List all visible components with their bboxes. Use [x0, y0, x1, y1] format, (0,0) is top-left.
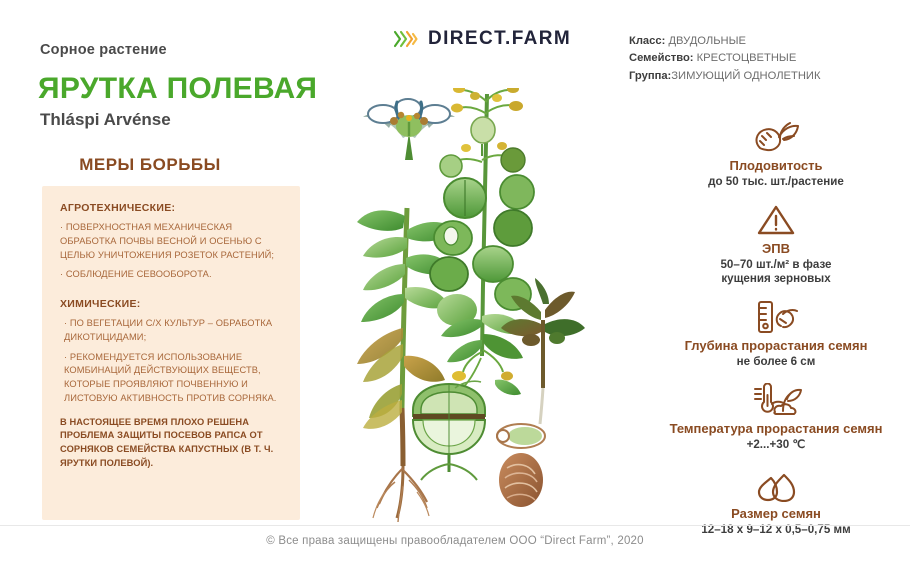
classification-value: ЗИМУЮЩИЙ ОДНОЛЕТНИК — [671, 70, 820, 82]
warning-triangle-icon — [645, 195, 907, 237]
chemical-item: · РЕКОМЕНДУЕТСЯ ИСПОЛЬЗОВАНИЕ КОМБИНАЦИЙ… — [60, 351, 286, 406]
measures-note: В НАСТОЯЩЕЕ ВРЕМЯ ПЛОХО РЕШЕНА ПРОБЛЕМА … — [60, 416, 286, 472]
classification-row-group: Группа:ЗИМУЮЩИЙ ОДНОЛЕТНИК — [629, 68, 904, 85]
page-title: ЯРУТКА ПОЛЕВАЯ — [38, 72, 317, 106]
fact-title: Глубина прорастания семян — [645, 338, 907, 353]
fact-title: ЭПВ — [645, 241, 907, 256]
fact-title: Размер семян — [645, 506, 907, 521]
classification-key: Семейство: — [629, 52, 694, 64]
fact-value: 50–70 шт./м² в фазе кущения зерновых — [645, 258, 907, 286]
fact-value: не более 6 см — [645, 355, 907, 369]
seed-pod-cross-section — [413, 381, 485, 480]
footer-copyright: © Все права защищены правообладателем ОО… — [0, 535, 910, 547]
agrotechnical-item: · СОБЛЮДЕНИЕ СЕВООБОРОТА. — [60, 268, 286, 282]
fact-epv: ЭПВ 50–70 шт./м² в фазе кущения зерновых — [645, 195, 907, 287]
seed-sprout-icon — [645, 112, 907, 154]
fact-value-line1: 50–70 шт./м² в фазе — [720, 258, 831, 271]
measures-heading: МЕРЫ БОРЬБЫ — [0, 155, 300, 175]
agrotechnical-heading: АГРОТЕХНИЧЕСКИЕ: — [60, 202, 286, 214]
fact-germination-depth: Глубина прорастания семян не более 6 см — [645, 292, 907, 369]
infographic-page: Сорное растение ЯРУТКА ПОЛЕВАЯ Thláspi A… — [0, 0, 910, 563]
classification-key: Группа: — [629, 70, 671, 82]
fact-title: Плодовитость — [645, 158, 907, 173]
fact-value: до 50 тыс. шт./растение — [645, 175, 907, 189]
fact-value: +2...+30 ℃ — [645, 438, 907, 452]
fact-value-line2: кущения зерновых — [721, 272, 830, 285]
agrotechnical-item: · ПОВЕРХНОСТНАЯ МЕХАНИЧЕСКАЯ ОБРАБОТКА П… — [60, 221, 286, 262]
fact-fertility: Плодовитость до 50 тыс. шт./растение — [645, 112, 907, 189]
seed-detail — [497, 424, 545, 507]
footer-divider — [0, 525, 910, 526]
chevrons-logo-icon — [393, 28, 419, 50]
flowering-stem — [430, 88, 534, 402]
classification-row-family: Семейство: КРЕСТОЦВЕТНЫЕ — [629, 50, 904, 67]
fact-germination-temperature: Температура прорастания семян +2...+30 ℃ — [645, 375, 907, 452]
rosette-with-root — [357, 208, 457, 522]
chemical-heading: ХИМИЧЕСКИЕ: — [60, 298, 286, 310]
flower-closeup — [363, 99, 455, 160]
classification-block: Класс: ДВУДОЛЬНЫЕ Семейство: КРЕСТОЦВЕТН… — [629, 33, 904, 85]
ruler-seed-icon — [645, 292, 907, 334]
chemical-item: · ПО ВЕГЕТАЦИИ С/Х КУЛЬТУР – ОБРАБОТКА Д… — [60, 317, 286, 345]
classification-value: ДВУДОЛЬНЫЕ — [668, 35, 746, 47]
measures-box: АГРОТЕХНИЧЕСКИЕ: · ПОВЕРХНОСТНАЯ МЕХАНИЧ… — [42, 186, 300, 520]
brand-logo-text: DIRECT.FARM — [428, 28, 571, 50]
fact-title: Температура прорастания семян — [645, 421, 907, 436]
thermometer-sprout-icon — [645, 375, 907, 417]
classification-key: Класс: — [629, 35, 665, 47]
latin-name: Thláspi Arvénse — [40, 110, 171, 130]
classification-row-class: Класс: ДВУДОЛЬНЫЕ — [629, 33, 904, 50]
seeds-drops-icon — [645, 460, 907, 502]
kicker-label: Сорное растение — [40, 42, 167, 58]
classification-value: КРЕСТОЦВЕТНЫЕ — [697, 52, 797, 64]
plant-illustration — [345, 88, 635, 528]
left-column: Сорное растение ЯРУТКА ПОЛЕВАЯ Thláspi A… — [0, 0, 340, 563]
brand-logo[interactable]: DIRECT.FARM — [393, 28, 571, 50]
